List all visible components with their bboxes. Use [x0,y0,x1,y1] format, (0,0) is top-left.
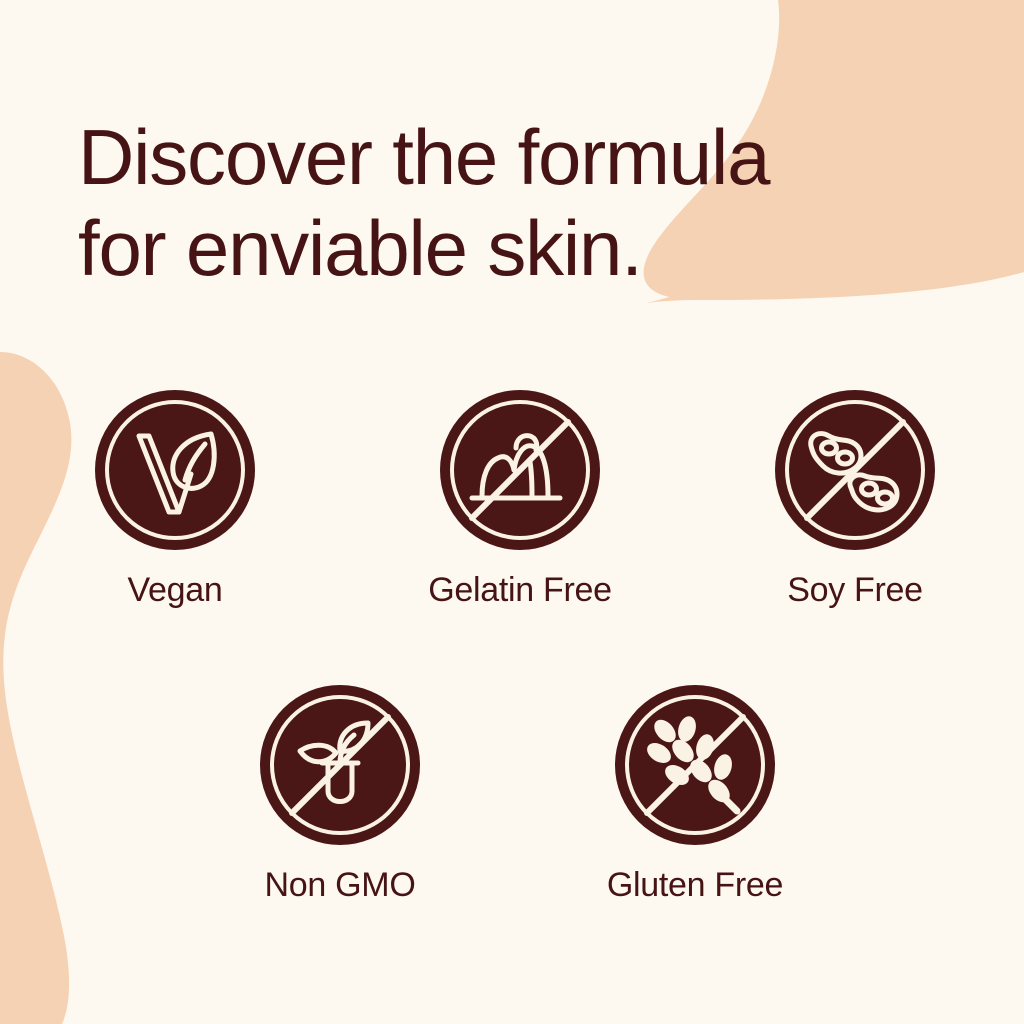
badge-soy-free: Soy Free [740,390,970,609]
badge-disc-non-gmo [260,685,420,845]
sprout-test-tube-icon [270,695,410,835]
headline-line-1: Discover the formula [78,112,769,203]
badge-vegan: Vegan [60,390,290,609]
page-title: Discover the formula for enviable skin. [78,112,769,295]
badge-label-non-gmo: Non GMO [225,867,455,904]
badge-disc-vegan [95,390,255,550]
gelatin-mold-icon [450,400,590,540]
badge-label-gelatin-free: Gelatin Free [405,572,635,609]
prohibition-slash [292,717,388,813]
wheat-stalk-icon [625,695,765,835]
badge-label-gluten-free: Gluten Free [580,867,810,904]
badge-disc-gelatin-free [440,390,600,550]
vegan-leaf-v-icon [105,400,245,540]
badge-gelatin-free: Gelatin Free [405,390,635,609]
badge-disc-soy-free [775,390,935,550]
soybean-pods-icon [785,400,925,540]
badge-disc-gluten-free [615,685,775,845]
badge-label-vegan: Vegan [60,572,290,609]
promo-graphic: Discover the formula for enviable skin. [0,0,1024,1024]
badge-label-soy-free: Soy Free [740,572,970,609]
badge-non-gmo: Non GMO [225,685,455,904]
headline-line-2: for enviable skin. [78,203,769,294]
badge-gluten-free: Gluten Free [580,685,810,904]
